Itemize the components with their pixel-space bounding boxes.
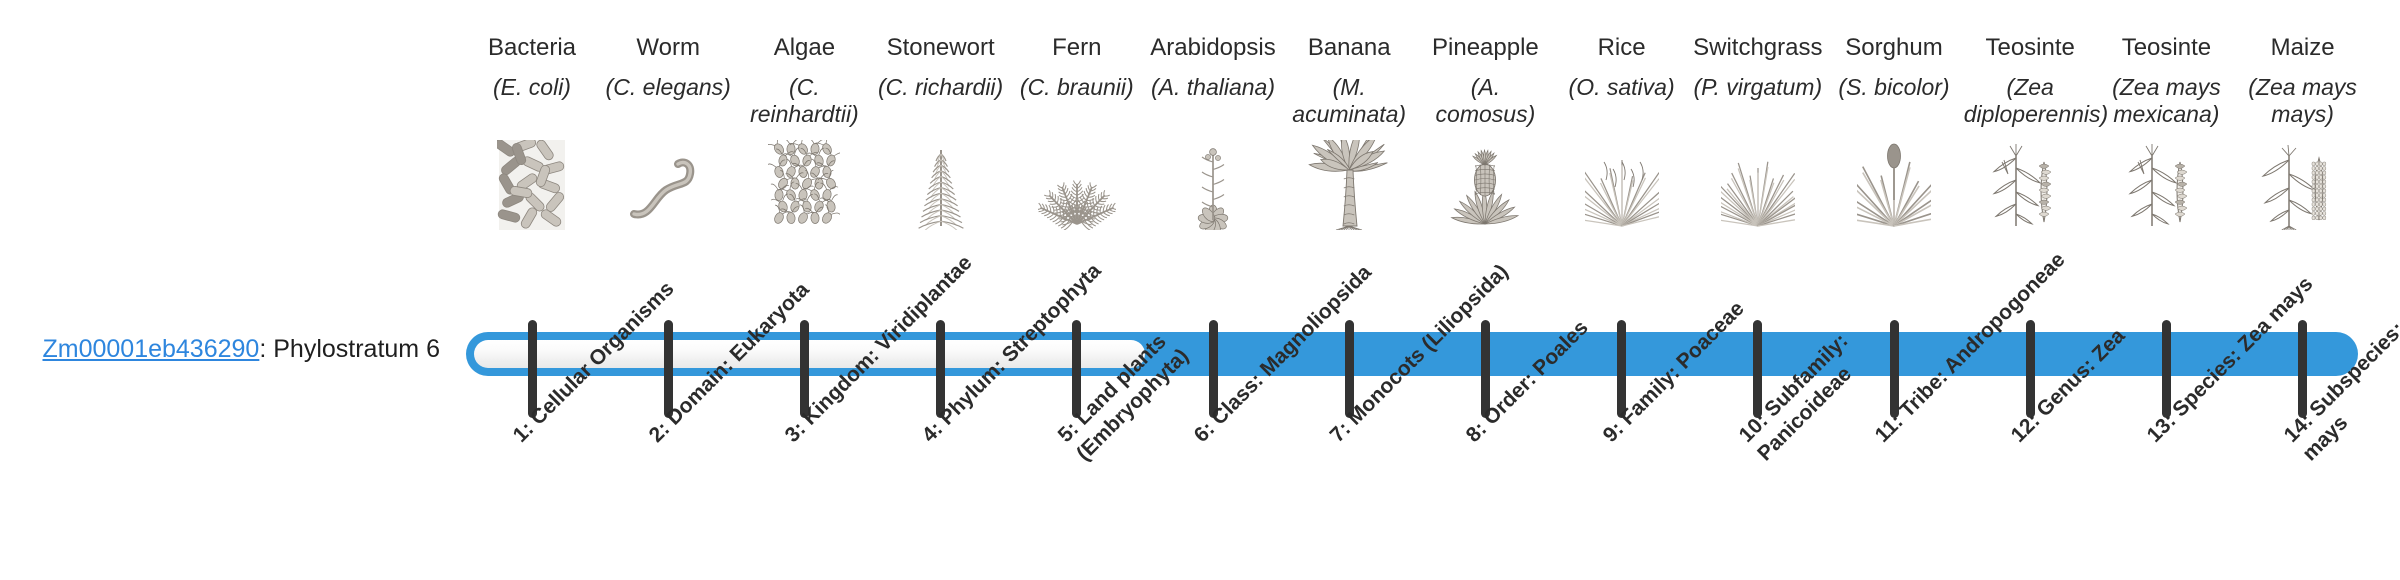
maize-icon	[2234, 140, 2371, 230]
species-column: Maize(Zea mays mays)	[2234, 34, 2371, 128]
species-column: Pineapple(A. comosus)	[1417, 34, 1554, 128]
species-column: Worm(C. elegans)	[600, 34, 737, 101]
arabidopsis-icon	[1145, 140, 1282, 230]
species-latin-name: (C. elegans)	[600, 74, 737, 101]
species-latin-name: (Zea diploperennis)	[1962, 74, 2099, 128]
species-column: Teosinte(Zea diploperennis)	[1962, 34, 2099, 128]
species-common-name: Banana	[1281, 34, 1418, 62]
rank-text: Order: Poales	[1479, 316, 1593, 430]
species-latin-name: (C. richardii)	[872, 74, 1009, 101]
rank-number: 11:	[1871, 410, 1908, 447]
phylostratum-value-text: Phylostratum 6	[273, 335, 440, 363]
species-latin-name: (C. reinhardtii)	[736, 74, 873, 128]
species-column: Algae(C. reinhardtii)	[736, 34, 873, 128]
teosinte-icon	[2098, 140, 2235, 230]
species-column: Sorghum(S. bicolor)	[1826, 34, 1963, 101]
species-latin-name: (E. coli)	[464, 74, 601, 101]
sorghum-icon	[1826, 140, 1963, 230]
rank-text: Land plants (Embryophyta)	[1071, 330, 1193, 465]
species-common-name: Rice	[1553, 34, 1690, 62]
species-column: Stonewort(C. richardii)	[872, 34, 1009, 101]
species-common-name: Switchgrass	[1689, 34, 1826, 62]
species-latin-name: (A. thaliana)	[1145, 74, 1282, 101]
species-column: Rice(O. sativa)	[1553, 34, 1690, 101]
stonewort-icon	[872, 140, 1009, 230]
worm-icon	[600, 140, 737, 230]
rice-icon	[1553, 140, 1690, 230]
fern-icon	[1008, 140, 1145, 230]
species-column: Banana(M. acuminata)	[1281, 34, 1418, 128]
species-common-name: Pineapple	[1417, 34, 1554, 62]
gene-phylostratum-label: Zm00001eb436290: Phylostratum 6	[40, 336, 440, 364]
gene-id-link[interactable]: Zm00001eb436290	[42, 335, 259, 363]
species-common-name: Bacteria	[464, 34, 601, 62]
species-latin-name: (P. virgatum)	[1689, 74, 1826, 101]
species-common-name: Stonewort	[872, 34, 1009, 62]
species-column: Fern(C. braunii)	[1008, 34, 1145, 101]
species-latin-name: (C. braunii)	[1008, 74, 1145, 101]
switchgrass-icon	[1689, 140, 1826, 230]
pineapple-icon	[1417, 140, 1554, 230]
species-latin-name: (M. acuminata)	[1281, 74, 1418, 128]
banana-icon	[1281, 140, 1418, 230]
species-latin-name: (Zea mays mexicana)	[2098, 74, 2235, 128]
rank-number: 12:	[2007, 409, 2045, 447]
species-column: Bacteria(E. coli)	[464, 34, 601, 101]
rank-text: Genus: Zea	[2032, 324, 2129, 421]
species-common-name: Fern	[1008, 34, 1145, 62]
species-common-name: Arabidopsis	[1145, 34, 1282, 62]
rank-number: 4:	[917, 417, 946, 446]
species-common-name: Maize	[2234, 34, 2371, 62]
species-column: Teosinte(Zea mays mexicana)	[2098, 34, 2235, 128]
species-common-name: Worm	[600, 34, 737, 62]
bacteria-icon	[464, 140, 601, 230]
phylostratum-timeline-figure: Zm00001eb436290: Phylostratum 6 Bacteria…	[0, 0, 2400, 580]
species-latin-name: (S. bicolor)	[1826, 74, 1963, 101]
species-common-name: Algae	[736, 34, 873, 62]
rank-number: 13:	[2143, 409, 2181, 447]
rank-text: Subfamily: Panicoideae	[1753, 329, 1856, 465]
rank-number: 9:	[1598, 417, 1627, 446]
species-common-name: Teosinte	[2098, 34, 2235, 62]
species-latin-name: (O. sativa)	[1553, 74, 1690, 101]
species-common-name: Sorghum	[1826, 34, 1963, 62]
species-latin-name: (A. comosus)	[1417, 74, 1554, 128]
species-column: Switchgrass(P. virgatum)	[1689, 34, 1826, 101]
species-common-name: Teosinte	[1962, 34, 2099, 62]
species-latin-name: (Zea mays mays)	[2234, 74, 2371, 128]
species-column: Arabidopsis(A. thaliana)	[1145, 34, 1282, 101]
algae-icon	[736, 140, 873, 230]
gene-label-separator: :	[259, 335, 273, 363]
teosinte-icon	[1962, 140, 2099, 230]
